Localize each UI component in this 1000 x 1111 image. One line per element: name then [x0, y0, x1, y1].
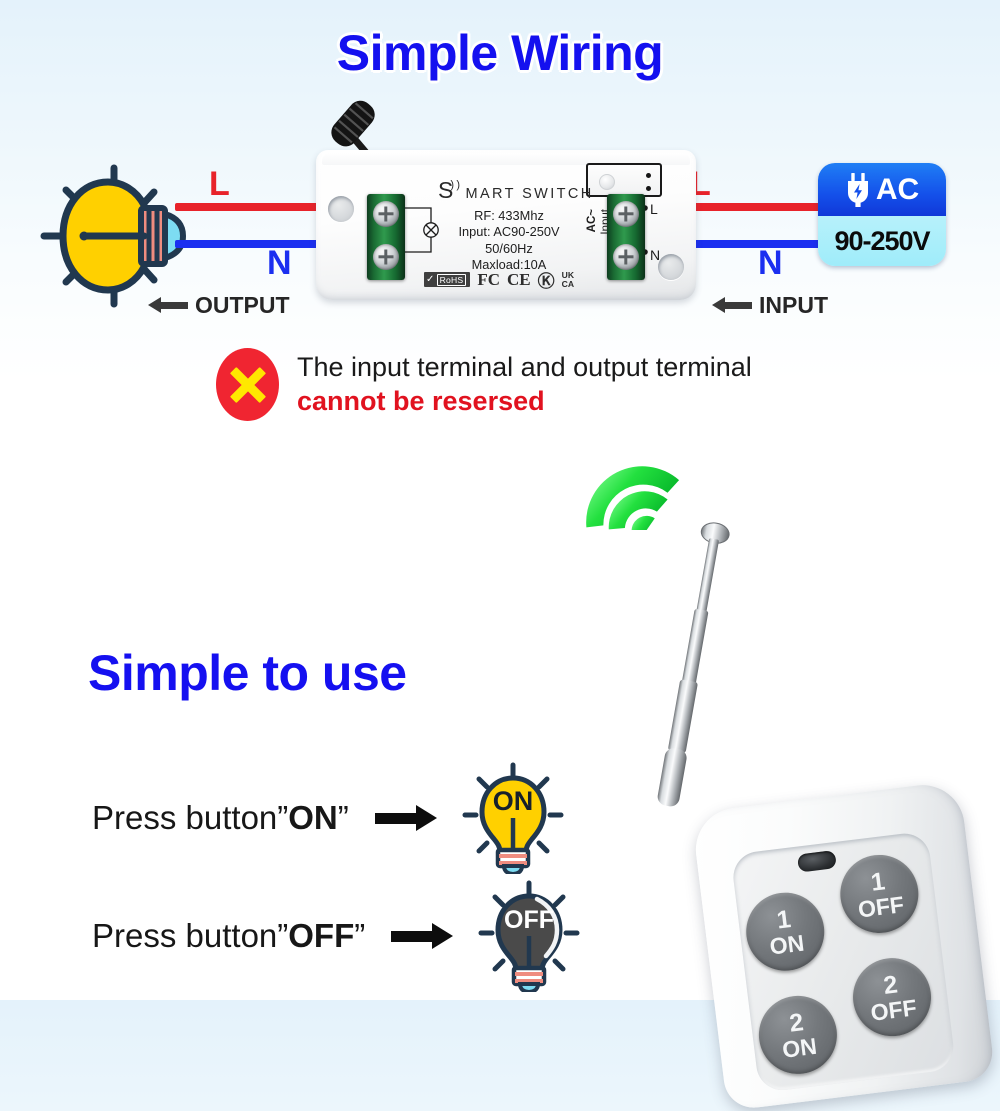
ukca-mark-icon: UK CA	[562, 271, 574, 287]
voltage-label: 90-250V	[834, 226, 929, 257]
led-indicator-icon	[646, 173, 651, 178]
output-neutral-label: N	[267, 244, 292, 283]
rf-remote-control[interactable]: 1 ON 1 OFF 2 ON 2 OFF	[691, 777, 1000, 1111]
ce-mark-icon: CE	[507, 270, 531, 290]
output-live-label: L	[209, 165, 230, 204]
wifi-signal-icon	[578, 440, 698, 530]
instruction-text-off: Press button”OFF”	[92, 917, 365, 955]
kc-mark-icon: Ⓚ	[538, 267, 555, 292]
signal-waves-icon: ))	[450, 179, 462, 191]
warning-text: The input terminal and output terminal c…	[297, 351, 752, 419]
rohs-mark-icon: ✓ RoHS	[424, 272, 470, 287]
bulb-off-label: OFF	[504, 906, 554, 934]
remote-keypad: 1 ON 1 OFF 2 ON 2 OFF	[730, 831, 956, 1093]
section-title-simple-to-use: Simple to use	[88, 644, 407, 702]
terminal-screw	[613, 244, 639, 270]
input-terminal-block	[607, 194, 645, 280]
terminal-screw	[373, 244, 399, 270]
screw-hole	[328, 196, 354, 222]
input-live-wire	[688, 203, 828, 211]
telescopic-antenna	[640, 518, 730, 818]
instruction-text-on: Press button”ON”	[92, 799, 349, 837]
output-live-wire	[175, 203, 325, 211]
instruction-row-off: Press button”OFF” OFF	[92, 880, 583, 992]
led-indicator-icon	[797, 850, 837, 872]
ac-badge-bottom: 90-250V	[818, 216, 946, 266]
right-arrow-icon	[391, 923, 453, 949]
device-pair-button[interactable]	[599, 174, 615, 190]
remote-button-1-off[interactable]: 1 OFF	[836, 850, 923, 937]
terminal-screw	[613, 201, 639, 227]
device-brand-label: S))MART SWITCH	[438, 177, 594, 204]
left-arrow-icon	[148, 297, 188, 314]
remote-button-2-on[interactable]: 2 ON	[754, 991, 841, 1078]
left-arrow-icon	[712, 297, 752, 314]
remote-button-1-on[interactable]: 1 ON	[742, 888, 829, 975]
device-spec-block: RF: 433Mhz Input: AC90-250V 50/60Hz Maxl…	[436, 208, 582, 274]
output-terminal-block	[367, 194, 405, 280]
input-direction-label: INPUT	[712, 292, 828, 319]
instruction-row-on: Press button”ON” ON	[92, 762, 567, 874]
bulb-off-icon: OFF	[475, 880, 583, 992]
page-title-simple-wiring: Simple Wiring	[0, 24, 1000, 82]
device-button-panel[interactable]	[586, 163, 662, 197]
terminal-screw	[373, 201, 399, 227]
ac-voltage-badge: AC 90-250V	[818, 163, 946, 266]
output-neutral-wire	[175, 240, 325, 248]
input-neutral-label: N	[758, 244, 783, 283]
warning-notice: The input terminal and output terminal c…	[216, 348, 752, 421]
infographic-canvas: Simple Wiring L N OUTPUT	[0, 0, 1000, 1000]
right-arrow-icon	[375, 805, 437, 831]
smart-switch-device: S))MART SWITCH L N Output RF: 433Mhz Inp…	[316, 150, 696, 300]
remote-button-2-off[interactable]: 2 OFF	[849, 954, 936, 1041]
bulb-on-icon: ON	[459, 762, 567, 874]
ac-label: AC	[876, 175, 919, 205]
bulb-on-label: ON	[493, 786, 534, 816]
cross-mark-icon	[216, 348, 279, 421]
screw-hole	[658, 254, 684, 280]
power-plug-icon	[845, 173, 871, 207]
led-indicator-icon	[646, 186, 651, 191]
certification-marks: ✓ RoHS FC CE Ⓚ UK CA	[424, 267, 574, 292]
ac-badge-top: AC	[818, 163, 946, 216]
fcc-mark-icon: FC	[477, 270, 500, 290]
output-direction-label: OUTPUT	[148, 292, 290, 319]
